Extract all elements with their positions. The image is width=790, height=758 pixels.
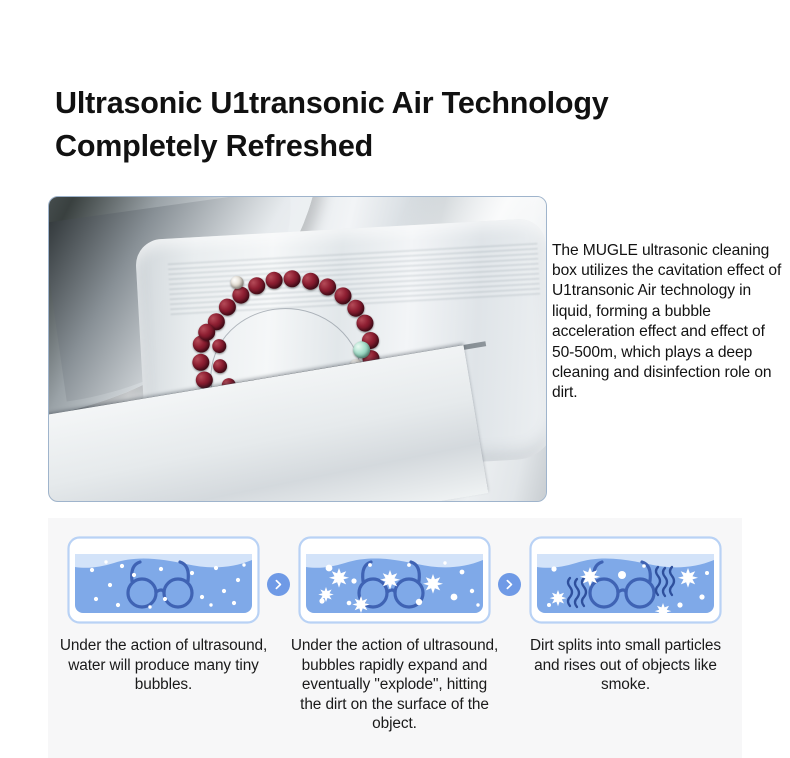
process-steps-strip: Under the action of ultrasound, water wi… xyxy=(48,518,742,758)
process-step-2: Under the action of ultrasound, bubbles … xyxy=(279,518,510,734)
product-overview-section: MUGLE The MUGLE ultrasonic cleaning box … xyxy=(48,196,742,502)
product-photo: MUGLE xyxy=(48,196,547,502)
step-1-next-arrow xyxy=(267,573,290,596)
process-step-3: Dirt splits into small particles and ris… xyxy=(510,518,741,695)
step-1-caption: Under the action of ultrasound, water wi… xyxy=(60,636,268,695)
page-title-line-1: Ultrasonic U1transonic Air Technology xyxy=(55,86,609,120)
tank-with-glasses-and-rising-dirt-icon xyxy=(528,535,723,625)
chevron-right-icon xyxy=(273,579,284,590)
tank-with-glasses-and-bubbles-icon xyxy=(66,535,261,625)
step-2-next-arrow xyxy=(498,573,521,596)
page-title-line-2: Completely Refreshed xyxy=(55,125,755,168)
tank-with-glasses-and-bursting-bubbles-icon xyxy=(297,535,492,625)
chevron-right-icon xyxy=(504,579,515,590)
page-title: Ultrasonic U1transonic Air Technology Co… xyxy=(55,82,755,168)
process-step-1: Under the action of ultrasound, water wi… xyxy=(48,518,279,695)
product-description: The MUGLE ultrasonic cleaning box utiliz… xyxy=(552,241,782,404)
step-3-caption: Dirt splits into small particles and ris… xyxy=(522,636,730,695)
step-2-caption: Under the action of ultrasound, bubbles … xyxy=(291,636,499,734)
